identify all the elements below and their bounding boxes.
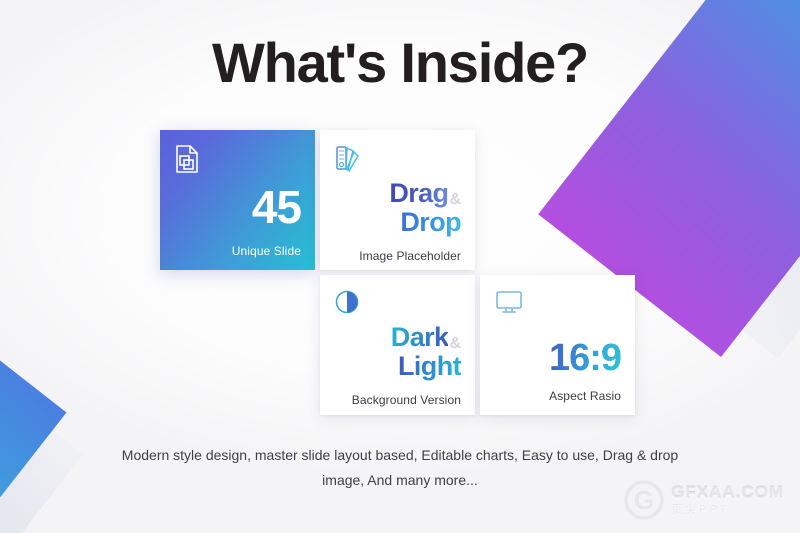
card-word-primary: Dark [391,322,449,352]
watermark: G GFXAA.COM 页尖PPT [623,479,784,521]
slide-canvas: What's Inside? 45 Unique Slide [0,0,800,533]
feature-cards-grid: 45 Unique Slide Drag& Drop [160,130,640,415]
documents-copy-icon [174,144,301,178]
card-unique-slide[interactable]: 45 Unique Slide [160,130,315,270]
card-value: 45 [252,184,301,230]
watermark-title: GFXAA.COM [671,484,784,501]
card-word-secondary: Drop [400,207,461,237]
card-value: 16:9 [549,339,621,377]
card-label: Aspect Rasio [549,389,621,403]
monitor-icon [494,289,621,323]
svg-text:G: G [634,485,654,515]
ampersand: & [449,191,461,208]
card-background-version[interactable]: Dark& Light Background Version [320,275,475,415]
card-aspect-ratio[interactable]: 16:9 Aspect Rasio [480,275,635,415]
card-label: Background Version [352,393,461,407]
bottom-left-band-shadow [0,411,83,533]
card-image-placeholder[interactable]: Drag& Drop Image Placeholder [320,130,475,270]
card-word-secondary: Light [398,351,461,381]
page-title: What's Inside? [0,32,800,94]
contrast-circle-icon [334,289,461,322]
ampersand: & [449,335,461,352]
gfxaa-logo-icon: G [623,479,665,521]
card-label: Unique Slide [232,244,301,258]
watermark-subtitle: 页尖PPT [671,505,784,516]
color-swatch-icon [334,144,461,178]
bottom-left-diagonal-band [0,360,66,533]
slide-caption: Modern style design, master slide layout… [120,443,680,492]
card-word-primary: Drag [389,178,448,208]
card-label: Image Placeholder [359,249,461,263]
